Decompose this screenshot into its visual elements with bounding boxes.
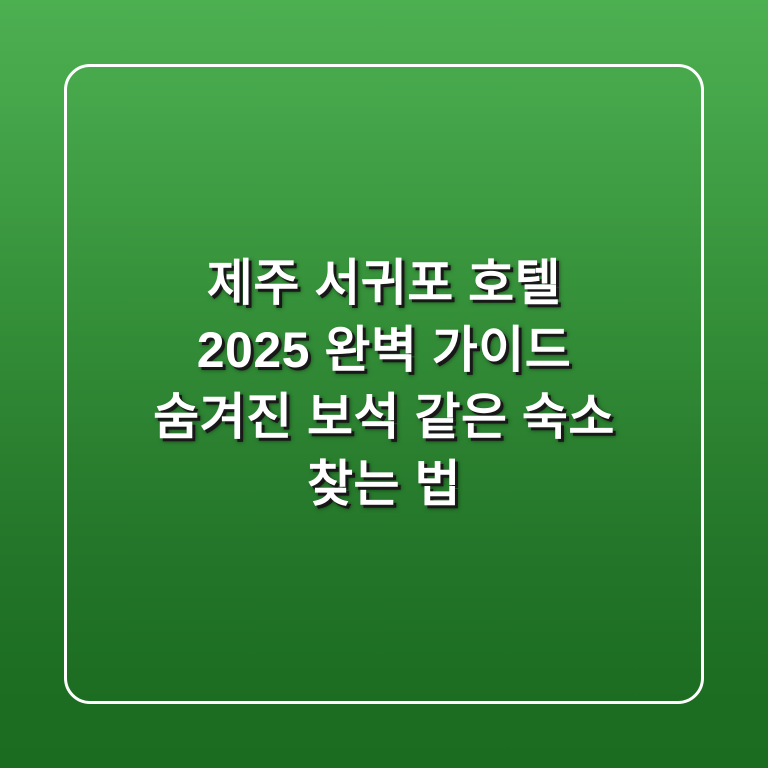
title-line-4: 찾는 법 — [72, 451, 696, 518]
title-line-3: 숨겨진 보석 같은 숙소 — [72, 384, 696, 451]
poster-canvas: 제주 서귀포 호텔 2025 완벽 가이드 숨겨진 보석 같은 숙소 찾는 법 — [0, 0, 768, 768]
poster-title-block: 제주 서귀포 호텔 2025 완벽 가이드 숨겨진 보석 같은 숙소 찾는 법 — [0, 0, 768, 768]
title-line-2: 2025 완벽 가이드 — [72, 317, 696, 384]
title-line-1: 제주 서귀포 호텔 — [72, 250, 696, 317]
